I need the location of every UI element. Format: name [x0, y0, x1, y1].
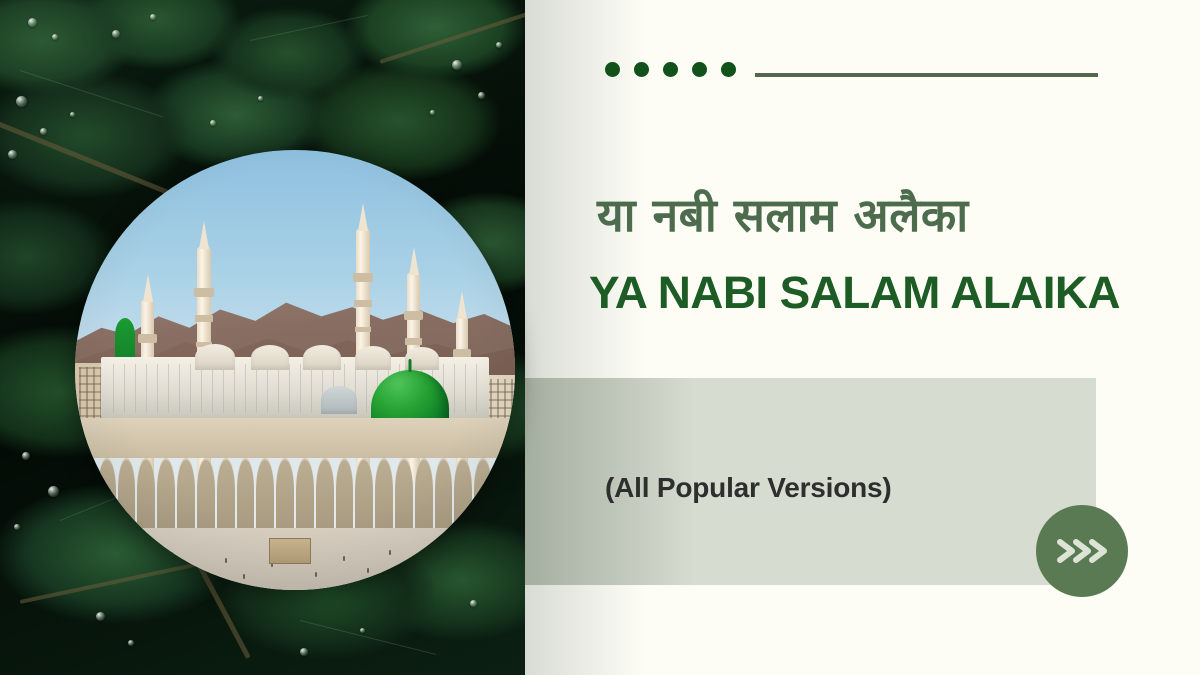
circle-vignette [75, 150, 515, 590]
water-droplet [96, 612, 105, 621]
slide-canvas: या नबी सलाम अलैका YA NABI SALAM ALAIKA (… [0, 0, 1200, 675]
water-droplet [22, 452, 30, 460]
water-droplet [150, 14, 156, 20]
water-droplet [8, 150, 17, 159]
water-droplet [52, 34, 58, 40]
water-droplet [112, 30, 120, 38]
water-droplet [16, 96, 27, 107]
title-roman: YA NABI SALAM ALAIKA [589, 268, 1200, 318]
decorative-dot-icon [721, 62, 736, 77]
water-droplet [496, 42, 502, 48]
decorative-dot-icon [605, 62, 620, 77]
subtitle-text: (All Popular Versions) [605, 472, 1105, 504]
double-chevron-right-icon [1055, 536, 1109, 566]
water-droplet [210, 120, 216, 126]
water-droplet [430, 110, 435, 115]
water-droplet [40, 128, 47, 135]
decorative-dot-icon [692, 62, 707, 77]
decorative-dots-row [605, 62, 750, 77]
water-droplet [470, 600, 477, 607]
water-droplet [478, 92, 485, 99]
water-droplet [28, 18, 37, 27]
decorative-dot-icon [634, 62, 649, 77]
water-droplet [70, 112, 75, 117]
water-droplet [360, 628, 365, 633]
water-droplet [48, 486, 59, 497]
water-droplet [128, 640, 134, 646]
content-panel: या नबी सलाम अलैका YA NABI SALAM ALAIKA (… [525, 0, 1200, 675]
water-droplet [300, 648, 308, 656]
arch [494, 458, 512, 533]
water-droplet [258, 96, 263, 101]
decorative-dot-icon [663, 62, 678, 77]
next-button[interactable] [1036, 505, 1128, 597]
water-droplet [452, 60, 462, 70]
header-divider-rule [755, 73, 1098, 77]
title-devanagari: या नबी सलाम अलैका [597, 189, 1197, 242]
water-droplet [14, 524, 20, 530]
arch [78, 458, 96, 533]
mosque-circle-image [75, 150, 515, 590]
